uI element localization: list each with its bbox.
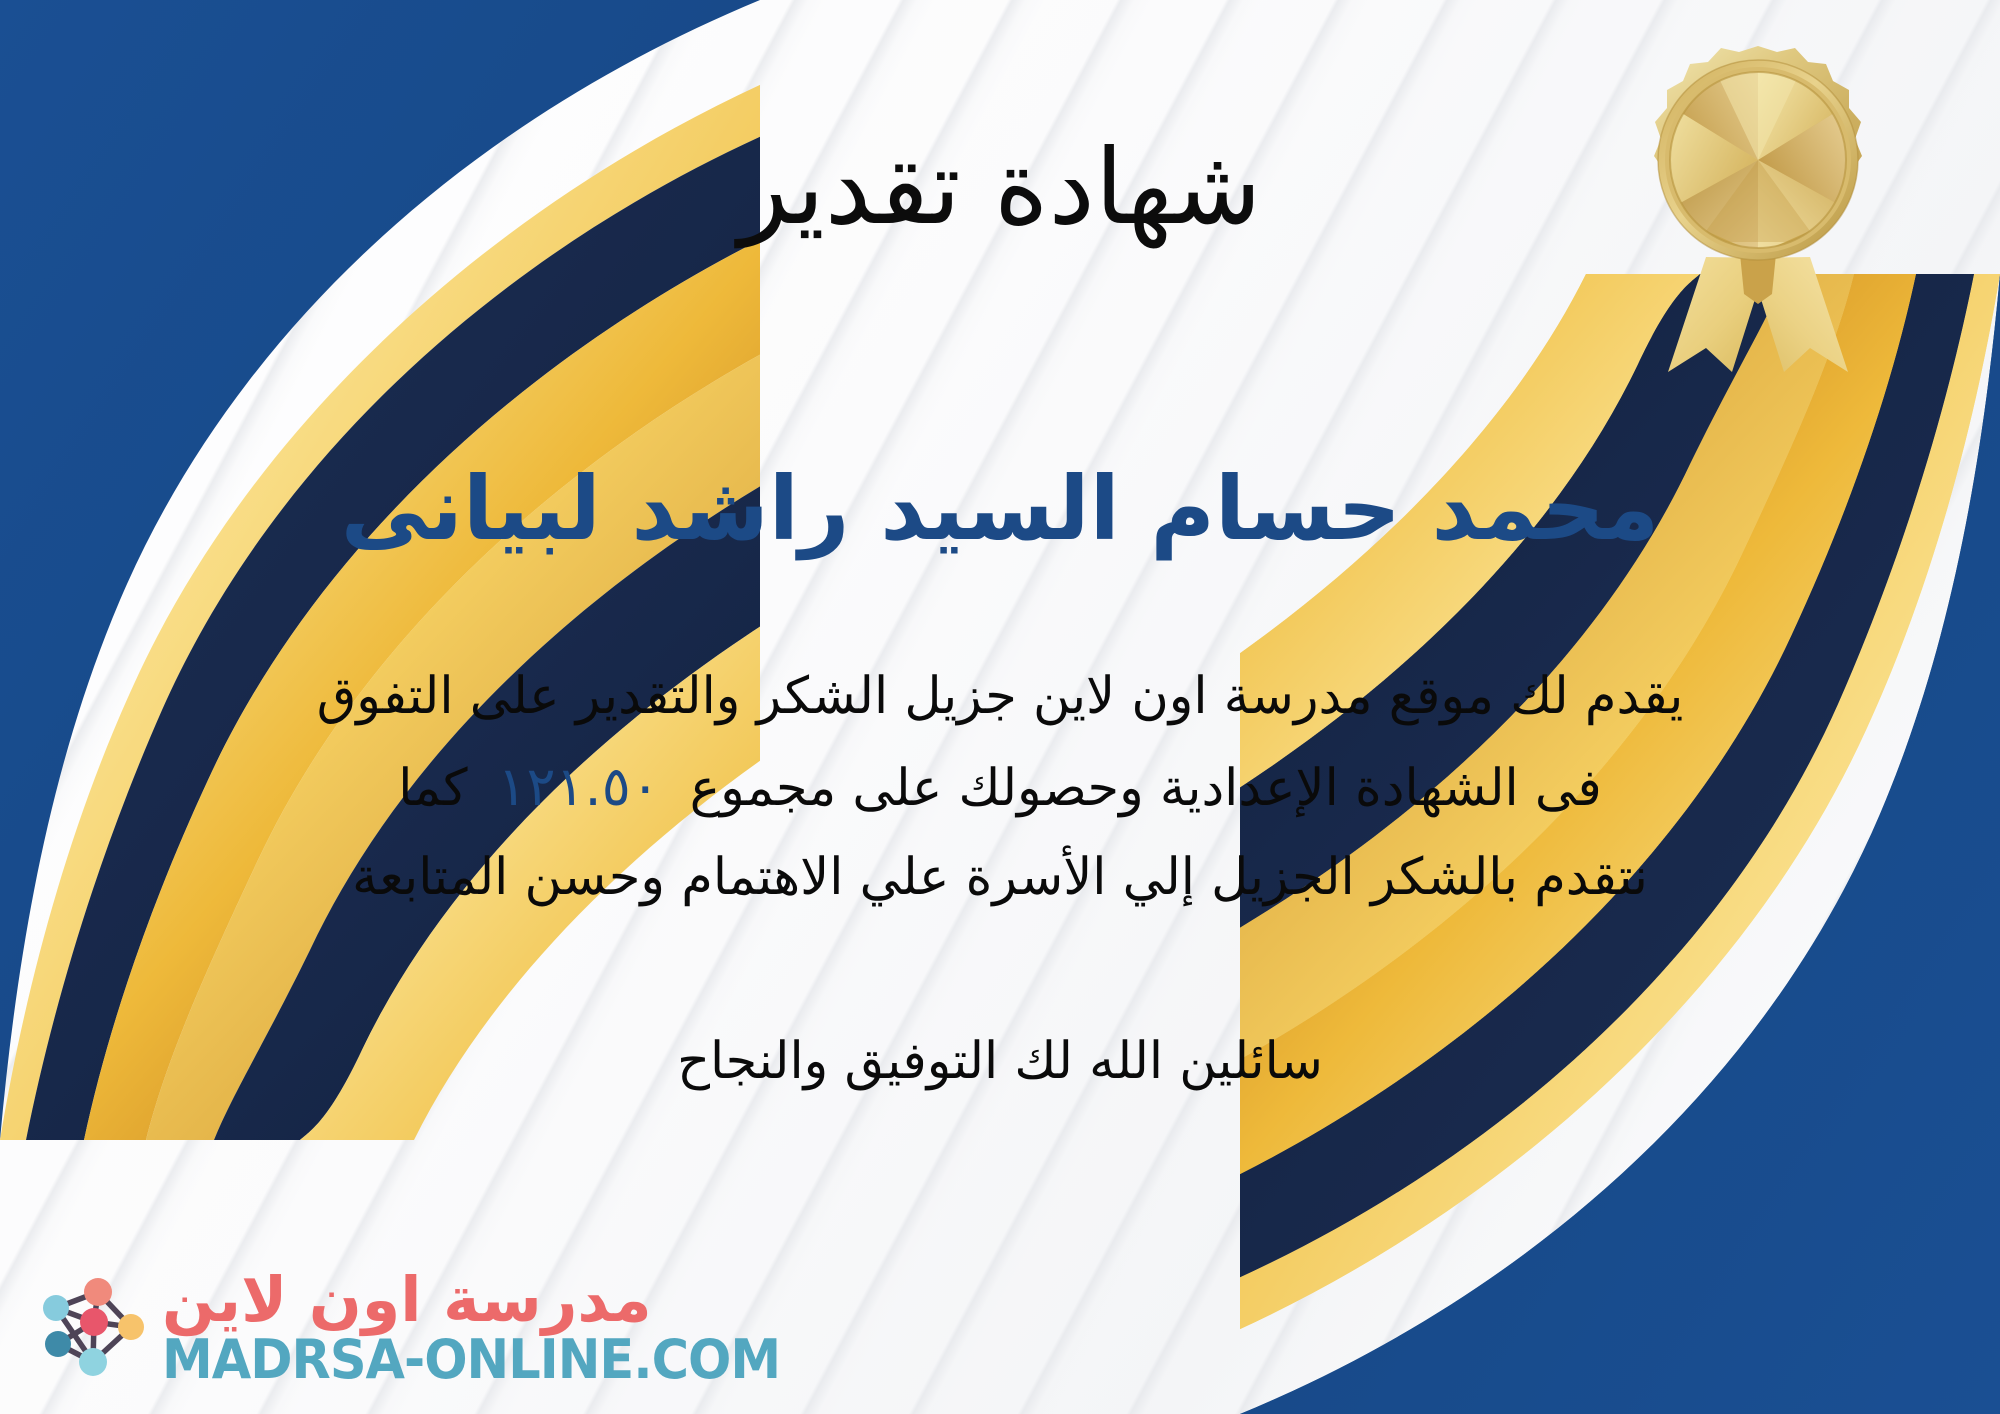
body-line-2: فى الشهادة الإعدادية وحصولك على مجموع ١٢…: [80, 741, 1920, 834]
logo-text-group: مدرسة اون لاين MADRSA-ONLINE.COM: [162, 1269, 780, 1386]
body-line-2-right: فى الشهادة الإعدادية وحصولك على مجموع: [690, 745, 1602, 833]
brand-website: MADRSA-ONLINE.COM: [162, 1333, 780, 1387]
certificate-page: شهادة تقدير محمد حسام السيد راشد لبيانى …: [0, 0, 2000, 1414]
body-line-2-left: كما: [398, 745, 467, 833]
recipient-name: محمد حسام السيد راشد لبيانى: [341, 456, 1660, 562]
closing-blessing: سائلين الله لك التوفيق والنجاح: [677, 1032, 1323, 1091]
network-graph-icon: [34, 1272, 152, 1384]
body-line-3: نتقدم بالشكر الجزيل إلي الأسرة علي الاهت…: [80, 834, 1920, 922]
grade-total-value: ١٢١.٥٠: [468, 741, 690, 834]
page-title: شهادة تقدير: [738, 128, 1261, 248]
body-line-1: يقدم لك موقع مدرسة اون لاين جزيل الشكر و…: [80, 653, 1920, 741]
brand-logo[interactable]: مدرسة اون لاين MADRSA-ONLINE.COM: [34, 1269, 780, 1386]
certificate-content: شهادة تقدير محمد حسام السيد راشد لبيانى …: [0, 0, 2000, 1414]
brand-arabic-name: مدرسة اون لاين: [162, 1269, 652, 1331]
certificate-body: يقدم لك موقع مدرسة اون لاين جزيل الشكر و…: [80, 653, 1920, 921]
